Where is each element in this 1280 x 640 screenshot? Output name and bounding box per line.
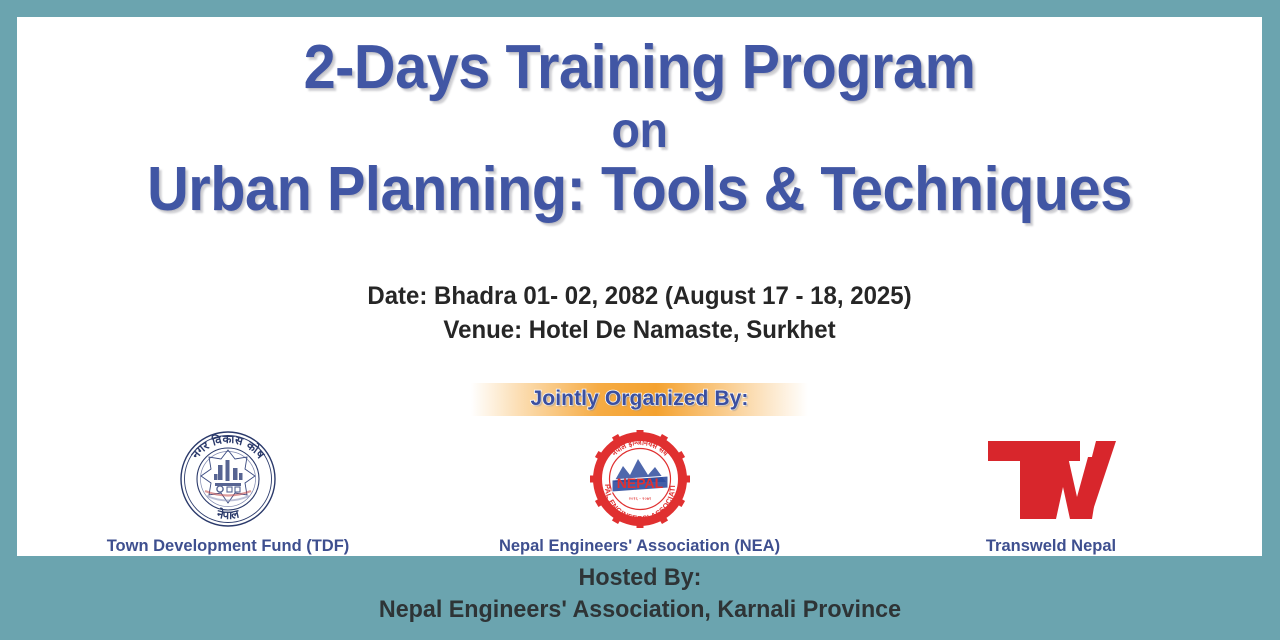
organizer-nea: NEPAL २०१६ - २०७१ NEPAL ENGINEERS' ASSOC… <box>475 429 805 556</box>
jointly-organized-band: Jointly Organized By: <box>471 383 809 416</box>
tdf-caption: Town Development Fund (TDF) <box>63 537 393 556</box>
poster-root: 2-Days Training Program on Urban Plannin… <box>0 0 1280 640</box>
jointly-organized-band-wrap: Jointly Organized By: <box>17 383 1262 416</box>
hosted-by-label: Hosted By: <box>19 562 1261 594</box>
title-line-1: 2-Days Training Program <box>61 37 1219 99</box>
tdf-logo-art: नगर विकास कोष नेपाल <box>63 429 393 529</box>
title-line-2: on <box>61 105 1219 155</box>
tdf-seal-icon: नगर विकास कोष नेपाल <box>177 429 279 529</box>
title-line-3: Urban Planning: Tools & Techniques <box>61 159 1219 221</box>
nea-logo-art: NEPAL २०१६ - २०७१ NEPAL ENGINEERS' ASSOC… <box>475 429 805 529</box>
organizer-logos-row: नगर विकास कोष नेपाल Town Development Fun… <box>17 429 1262 556</box>
event-date: Date: Bhadra 01- 02, 2082 (August 17 - 1… <box>42 279 1237 313</box>
transweld-caption: Transweld Nepal <box>886 537 1216 556</box>
nea-inner-label: NEPAL <box>616 475 663 491</box>
hosted-by-org: Nepal Engineers' Association, Karnali Pr… <box>19 594 1261 626</box>
svg-text:नेपाल: नेपाल <box>215 506 242 522</box>
jointly-organized-label: Jointly Organized By: <box>531 387 749 410</box>
nea-caption: Nepal Engineers' Association (NEA) <box>475 537 805 556</box>
svg-text:२०१६ - २०७१: २०१६ - २०७१ <box>628 497 651 502</box>
title-block: 2-Days Training Program on Urban Plannin… <box>17 37 1262 221</box>
footer-block: Hosted By: Nepal Engineers' Association,… <box>0 562 1280 626</box>
event-info-block: Date: Bhadra 01- 02, 2082 (August 17 - 1… <box>17 279 1262 347</box>
transweld-tw-icon <box>984 435 1118 523</box>
tdf-devanagari-bottom: नेपाल <box>215 506 242 522</box>
transweld-logo-art <box>886 429 1216 529</box>
event-venue: Venue: Hotel De Namaste, Surkhet <box>42 313 1237 347</box>
poster-card: 2-Days Training Program on Urban Plannin… <box>17 17 1262 556</box>
organizer-tdf: नगर विकास कोष नेपाल Town Development Fun… <box>63 429 393 556</box>
nea-gear-icon: NEPAL २०१६ - २०७१ NEPAL ENGINEERS' ASSOC… <box>590 430 690 528</box>
organizer-transweld: Transweld Nepal <box>886 429 1216 556</box>
